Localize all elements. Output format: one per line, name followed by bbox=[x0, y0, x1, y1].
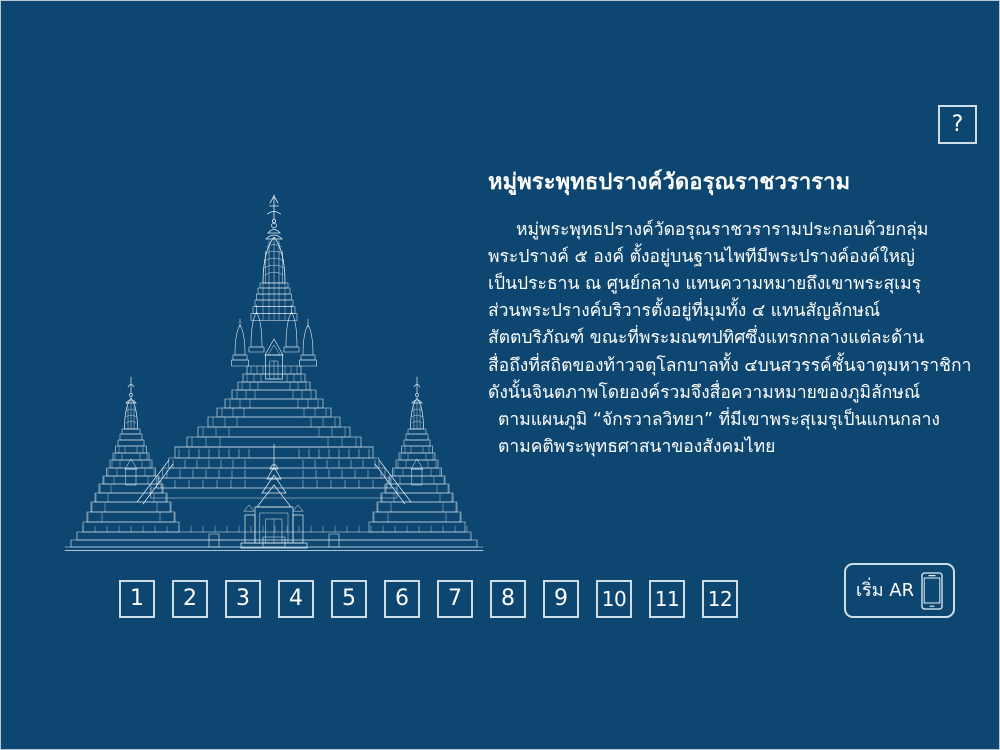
description-line: ดังนั้นจินตภาพโดยองค์รวมจึงสื่อความหมายข… bbox=[488, 380, 954, 407]
description-text: หมู่พระพุทธปรางค์วัดอรุณราชวรารามประกอบด… bbox=[488, 217, 954, 462]
scene-button-5[interactable]: 5 bbox=[331, 580, 367, 618]
description-line: ตามแผนภูมิ “จักรวาลวิทยา” ที่มีเขาพระสุเ… bbox=[488, 407, 954, 434]
scene-number-nav: 1 2 3 4 5 6 7 8 9 10 11 12 bbox=[119, 580, 738, 618]
scene-button-3[interactable]: 3 bbox=[225, 580, 261, 618]
scene-button-4[interactable]: 4 bbox=[278, 580, 314, 618]
scene-button-2[interactable]: 2 bbox=[172, 580, 208, 618]
page-title: หมู่พระพุทธปรางค์วัดอรุณราชวราราม bbox=[488, 169, 954, 197]
scene-button-11[interactable]: 11 bbox=[649, 580, 685, 618]
description-line: ตามคติพระพุทธศาสนาของสังคมไทย bbox=[488, 434, 954, 461]
ar-info-screen: ? bbox=[0, 0, 1000, 750]
scene-button-1[interactable]: 1 bbox=[119, 580, 155, 618]
scene-button-12[interactable]: 12 bbox=[702, 580, 738, 618]
question-mark-icon: ? bbox=[952, 114, 964, 136]
wat-arun-illustration bbox=[59, 179, 489, 551]
start-ar-button[interactable]: เริ่ม AR bbox=[844, 563, 955, 618]
description-line: พระปรางค์ ๕ องค์ ตั้งอยู่บนฐานไพทีมีพระป… bbox=[488, 244, 954, 271]
description-line: หมู่พระพุทธปรางค์วัดอรุณราชวรารามประกอบด… bbox=[488, 217, 954, 244]
scene-button-10[interactable]: 10 bbox=[596, 580, 632, 618]
scene-button-9[interactable]: 9 bbox=[543, 580, 579, 618]
scene-button-6[interactable]: 6 bbox=[384, 580, 420, 618]
start-ar-label: เริ่ม AR bbox=[856, 582, 914, 600]
description-line: สื่อถึงที่สถิตของท้าวจตุโลกบาลทั้ง ๔บนสว… bbox=[488, 353, 954, 380]
description-line: เป็นประธาน ณ ศูนย์กลาง แทนความหมายถึงเขา… bbox=[488, 271, 954, 298]
smartphone-icon bbox=[921, 572, 943, 610]
info-panel: หมู่พระพุทธปรางค์วัดอรุณราชวราราม หมู่พร… bbox=[488, 169, 954, 461]
description-line: ส่วนพระปรางค์บริวารตั้งอยู่ที่มุมทั้ง ๔ … bbox=[488, 298, 954, 325]
help-button[interactable]: ? bbox=[938, 105, 977, 144]
scene-button-8[interactable]: 8 bbox=[490, 580, 526, 618]
scene-button-7[interactable]: 7 bbox=[437, 580, 473, 618]
description-line: สัตตบริภัณฑ์ ขณะที่พระมณฑปทิศซึ่งแทรกกลา… bbox=[488, 325, 954, 352]
